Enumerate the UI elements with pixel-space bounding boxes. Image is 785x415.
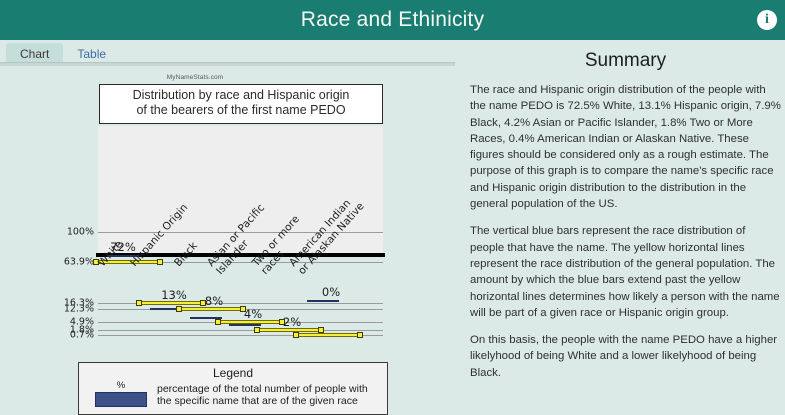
summary-heading: Summary <box>470 50 781 72</box>
chart-pane: Chart Table MyNameStats.com Distribution… <box>0 40 460 400</box>
y-axis-tick-label: 16.3% <box>0 298 94 309</box>
app-header: Race and Ethinicity i <box>0 0 785 40</box>
page-body: Chart Table MyNameStats.com Distribution… <box>0 40 785 400</box>
reference-line <box>295 333 361 337</box>
legend-entry: % percentage of the total number of peop… <box>85 381 381 408</box>
chart-legend: Legend % percentage of the total number … <box>78 362 388 415</box>
reference-line-cap <box>357 332 363 338</box>
reference-line-cap <box>215 319 221 325</box>
chart-bar <box>229 324 261 326</box>
bar-value-label: 13% <box>161 288 187 302</box>
y-gridline <box>98 330 383 331</box>
tab-bar: Chart Table <box>0 40 460 66</box>
chart-title-line-2: of the bearers of the first name PEDO <box>102 103 380 118</box>
legend-description: percentage of the total number of people… <box>157 381 368 408</box>
chart-container: MyNameStats.com Distribution by race and… <box>0 66 460 400</box>
reference-line-cap <box>136 300 142 306</box>
legend-title: Legend <box>85 366 381 380</box>
legend-key: % <box>85 381 157 407</box>
reference-line-cap <box>176 306 182 312</box>
y-axis-tick-label: 100% <box>0 227 94 238</box>
summary-pane: Summary The race and Hispanic origin dis… <box>460 40 785 400</box>
chart-title: Distribution by race and Hispanic origin… <box>99 84 383 124</box>
reference-line-cap <box>254 327 260 333</box>
page-title: Race and Ethinicity <box>301 8 485 32</box>
y-axis-tick-label: 63.9% <box>0 257 94 268</box>
summary-paragraph-2: The vertical blue bars represent the rac… <box>470 223 781 321</box>
reference-line-cap <box>293 332 299 338</box>
legend-description-line-2: the specific name that are of the given … <box>157 395 368 407</box>
bar-value-label: 4% <box>244 307 262 321</box>
legend-description-line-1: percentage of the total number of people… <box>157 383 368 395</box>
summary-paragraph-1: The race and Hispanic origin distributio… <box>470 82 781 212</box>
bar-value-label: 8% <box>205 294 223 308</box>
chart-title-line-1: Distribution by race and Hispanic origin <box>102 88 380 103</box>
info-icon[interactable]: i <box>757 10 777 30</box>
bar-value-label: 0% <box>322 285 340 299</box>
chart-bar <box>307 300 339 302</box>
chart-watermark: MyNameStats.com <box>0 74 390 81</box>
y-axis-tick-label: 4.9% <box>0 317 94 328</box>
bar-value-label: 2% <box>283 315 301 329</box>
summary-paragraph-3: On this basis, the people with the name … <box>470 332 781 381</box>
reference-line-cap <box>157 259 163 265</box>
legend-color-swatch-bar <box>95 392 147 407</box>
legend-key-symbol: % <box>85 381 157 391</box>
